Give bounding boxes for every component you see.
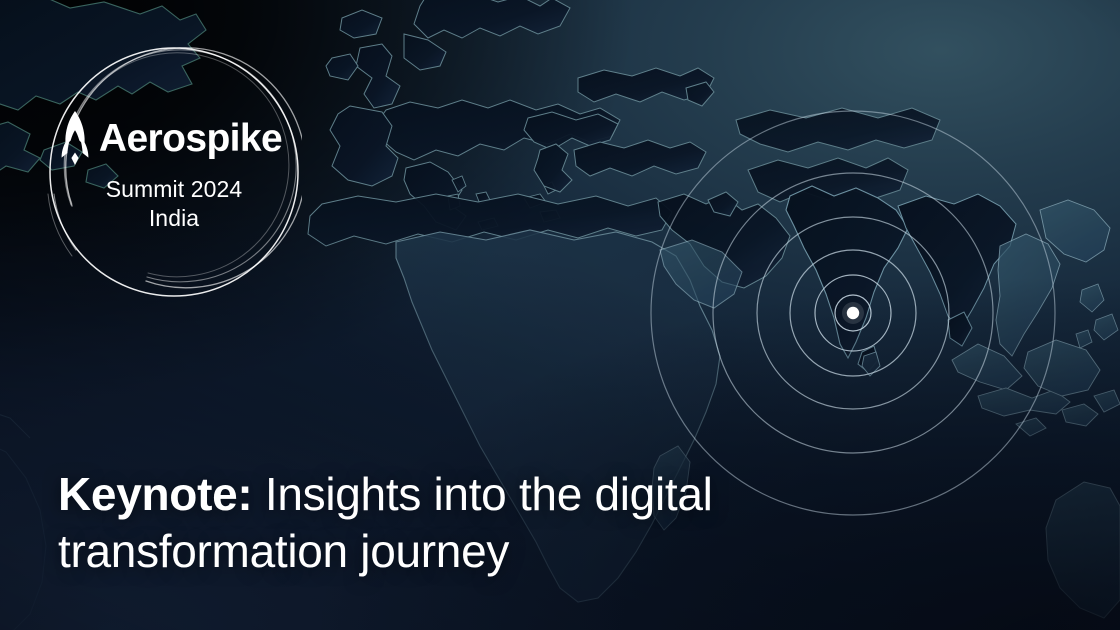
headline-lead-label: Keynote:: [58, 468, 252, 520]
aerospike-rocket-mark-icon: [60, 111, 90, 165]
aerospike-wordmark: Aerospike: [99, 119, 282, 158]
slide-headline: Keynote: Insights into the digital trans…: [58, 466, 818, 580]
badge-subtitle-line-2: India: [149, 204, 199, 233]
keynote-title-slide: Aerospike Summit 2024 India Keynote: Ins…: [0, 0, 1120, 630]
aerospike-summit-badge: Aerospike Summit 2024 India: [46, 44, 302, 300]
badge-content: Aerospike Summit 2024 India: [46, 44, 302, 300]
aerospike-logo-lockup: Aerospike: [60, 111, 282, 165]
badge-subtitle-line-1: Summit 2024: [106, 175, 243, 204]
